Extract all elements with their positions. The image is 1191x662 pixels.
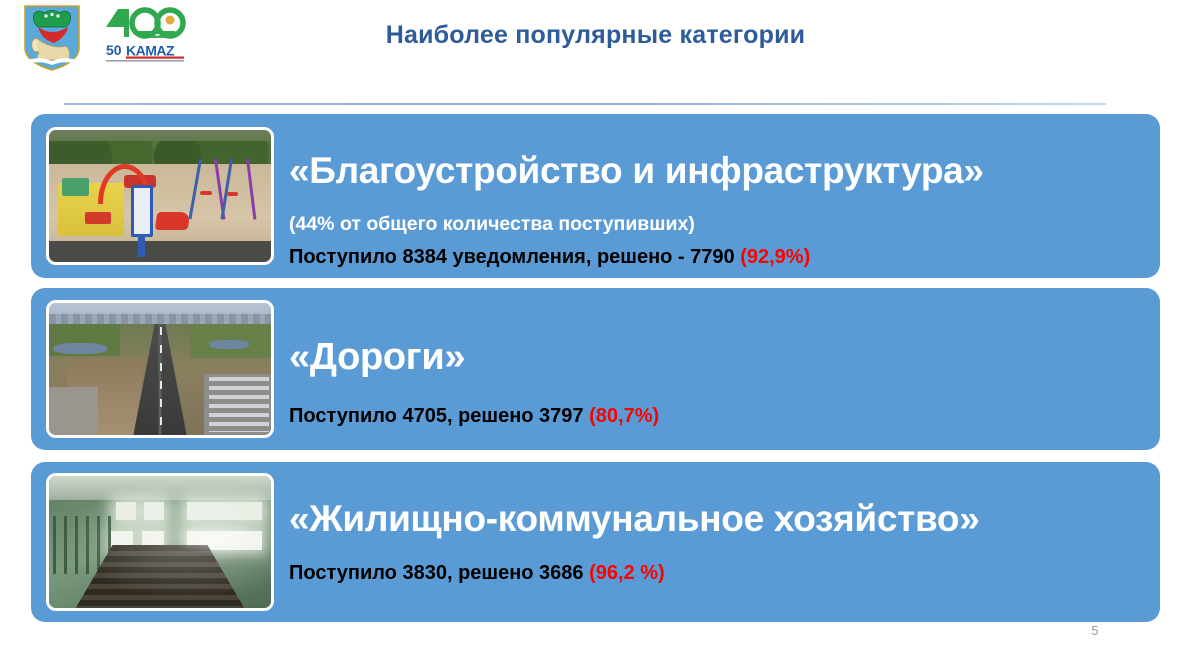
card-stat-line: Поступило 4705, решено 3797 (80,7%) — [289, 405, 659, 428]
page-number: 5 — [1080, 623, 1110, 638]
card-heading: «Благоустройство и инфраструктура» — [289, 150, 984, 192]
card-text-block: «Жилищно-коммунальное хозяйство» Поступи… — [289, 462, 1146, 622]
category-card-zhkh[interactable]: «Жилищно-коммунальное хозяйство» Поступи… — [31, 462, 1160, 622]
card-stat-text: Поступило 3830, решено 3686 — [289, 562, 589, 584]
card-stat-text: Поступило 4705, решено 3797 — [289, 405, 589, 427]
page-title: Наиболее популярные категории — [0, 21, 1191, 50]
card-stat-line: Поступило 3830, решено 3686 (96,2 %) — [289, 562, 665, 585]
category-card-blagoustroystvo[interactable]: «Благоустройство и инфраструктура» (44% … — [31, 114, 1160, 278]
card-stat-percent: (80,7%) — [589, 405, 659, 427]
stairwell-photo — [46, 473, 274, 611]
highway-aerial-photo — [46, 300, 274, 438]
card-heading: «Жилищно-коммунальное хозяйство» — [289, 498, 980, 540]
card-subtitle: (44% от общего количества поступивших) — [289, 213, 695, 236]
card-heading: «Дороги» — [289, 336, 465, 379]
card-stat-percent: (92,9%) — [740, 246, 810, 268]
card-stat-text: Поступило 8384 уведомления, решено - 779… — [289, 246, 740, 268]
title-divider — [64, 103, 1106, 105]
playground-photo — [46, 127, 274, 265]
card-text-block: «Благоустройство и инфраструктура» (44% … — [289, 114, 1146, 278]
card-text-block: «Дороги» Поступило 4705, решено 3797 (80… — [289, 288, 1146, 450]
card-stat-line: Поступило 8384 уведомления, решено - 779… — [289, 246, 810, 269]
card-stat-percent: (96,2 %) — [589, 562, 665, 584]
category-card-dorogi[interactable]: «Дороги» Поступило 4705, решено 3797 (80… — [31, 288, 1160, 450]
